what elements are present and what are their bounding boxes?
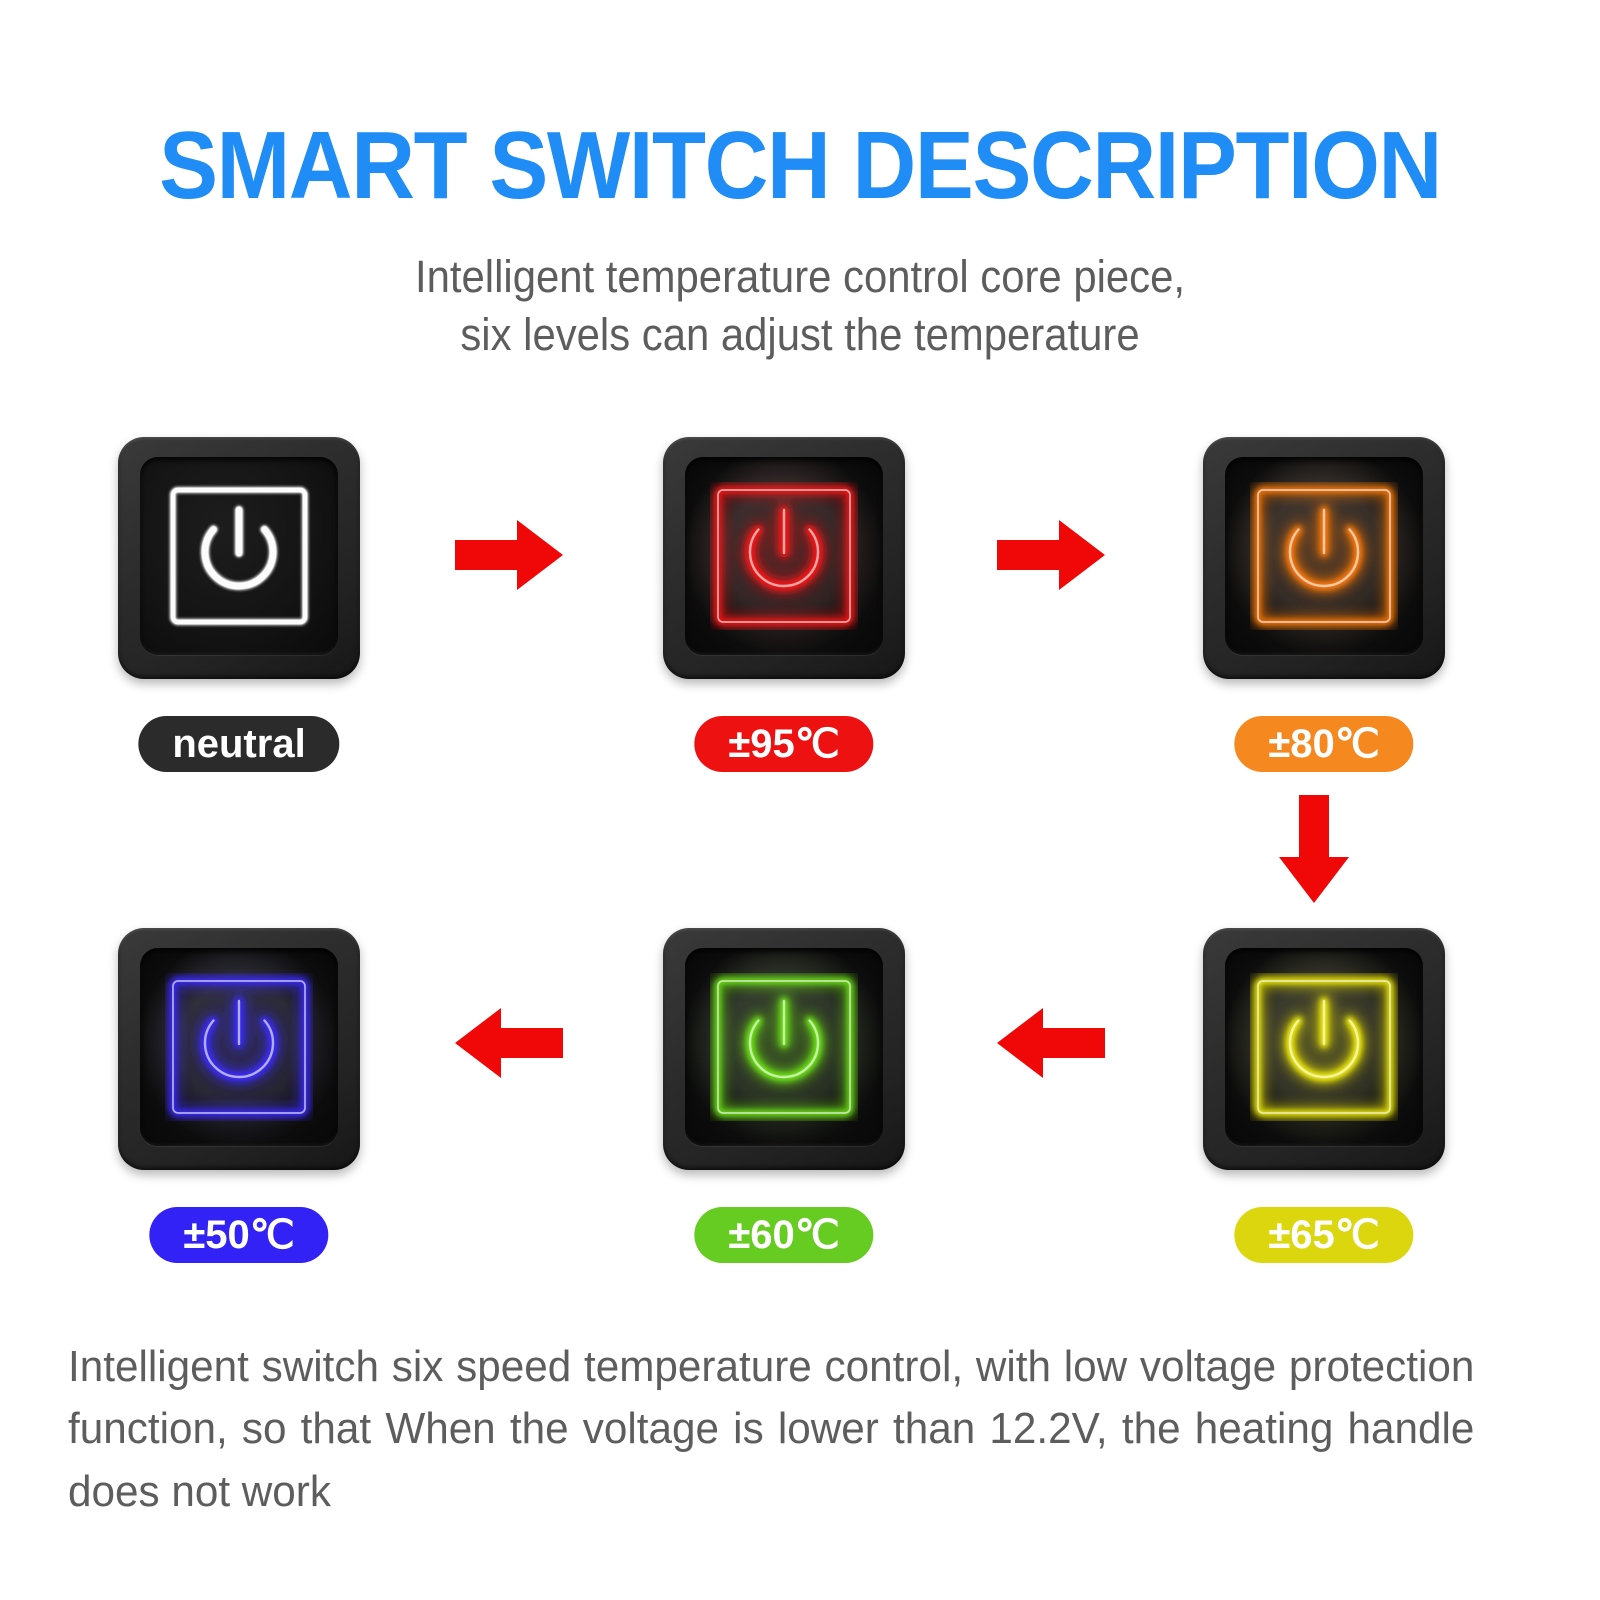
switch-button-neutral[interactable] (118, 437, 360, 679)
switch-cell-60[interactable]: ±60℃ (634, 928, 934, 1170)
switch-inner-face (685, 457, 883, 655)
switch-label-50: ±50℃ (149, 1207, 328, 1263)
switch-cell-95[interactable]: ±95℃ (634, 437, 934, 679)
switch-button-80[interactable] (1203, 437, 1445, 679)
arrow-down-icon (1277, 795, 1351, 903)
switch-label-80: ±80℃ (1234, 716, 1413, 772)
subtitle-line-2: six levels can adjust the temperature (56, 306, 1544, 364)
arrow-right-icon (997, 518, 1105, 592)
switch-cell-50[interactable]: ±50℃ (89, 928, 389, 1170)
switch-label-60: ±60℃ (694, 1207, 873, 1263)
switch-inner-face (685, 948, 883, 1146)
power-icon (710, 973, 858, 1121)
power-icon (710, 482, 858, 630)
switch-inner-face (1225, 948, 1423, 1146)
switch-label-neutral: neutral (138, 716, 339, 772)
footer-note: Intelligent switch six speed temperature… (68, 1336, 1474, 1523)
switch-label-95: ±95℃ (694, 716, 873, 772)
switch-inner-face (140, 948, 338, 1146)
switch-button-65[interactable] (1203, 928, 1445, 1170)
power-icon (165, 973, 313, 1121)
switch-inner-face (1225, 457, 1423, 655)
switch-button-50[interactable] (118, 928, 360, 1170)
switch-button-95[interactable] (663, 437, 905, 679)
switch-label-65: ±65℃ (1234, 1207, 1413, 1263)
power-icon (1250, 973, 1398, 1121)
page-title: SMART SWITCH DESCRIPTION (64, 118, 1536, 214)
arrow-left-icon (997, 1006, 1105, 1080)
power-icon (165, 482, 313, 630)
switch-cell-neutral[interactable]: neutral (89, 437, 389, 679)
arrow-right-icon (455, 518, 563, 592)
subtitle: Intelligent temperature control core pie… (56, 248, 1544, 363)
switch-button-60[interactable] (663, 928, 905, 1170)
switch-cell-80[interactable]: ±80℃ (1174, 437, 1474, 679)
switch-cell-65[interactable]: ±65℃ (1174, 928, 1474, 1170)
subtitle-line-1: Intelligent temperature control core pie… (56, 248, 1544, 306)
arrow-left-icon (455, 1006, 563, 1080)
power-icon (1250, 482, 1398, 630)
switch-inner-face (140, 457, 338, 655)
